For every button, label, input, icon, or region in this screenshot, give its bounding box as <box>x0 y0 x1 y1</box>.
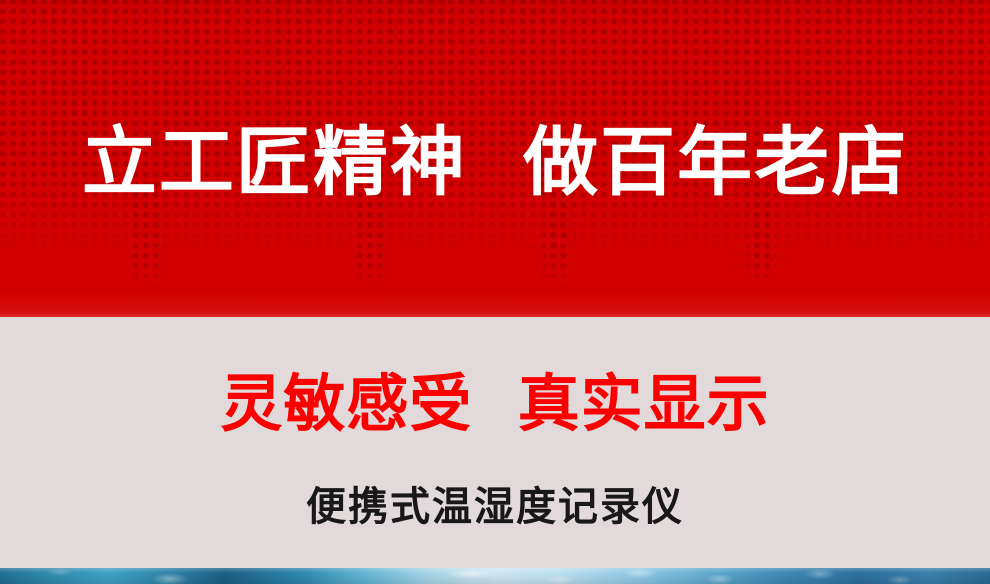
product-photo-strip <box>0 568 990 584</box>
photo-strip-shading <box>0 568 990 584</box>
photo-strip-texture <box>0 568 990 584</box>
banner-slogan: 立工匠精神 做百年老店 <box>0 125 990 200</box>
promo-poster: 立工匠精神 做百年老店 灵敏感受 真实显示 便携式温湿度记录仪 <box>0 0 990 584</box>
middle-panel <box>0 317 990 568</box>
product-headline: 灵敏感受 真实显示 <box>0 373 990 435</box>
red-banner: 立工匠精神 做百年老店 <box>0 0 990 317</box>
product-subtitle: 便携式温湿度记录仪 <box>0 487 990 527</box>
